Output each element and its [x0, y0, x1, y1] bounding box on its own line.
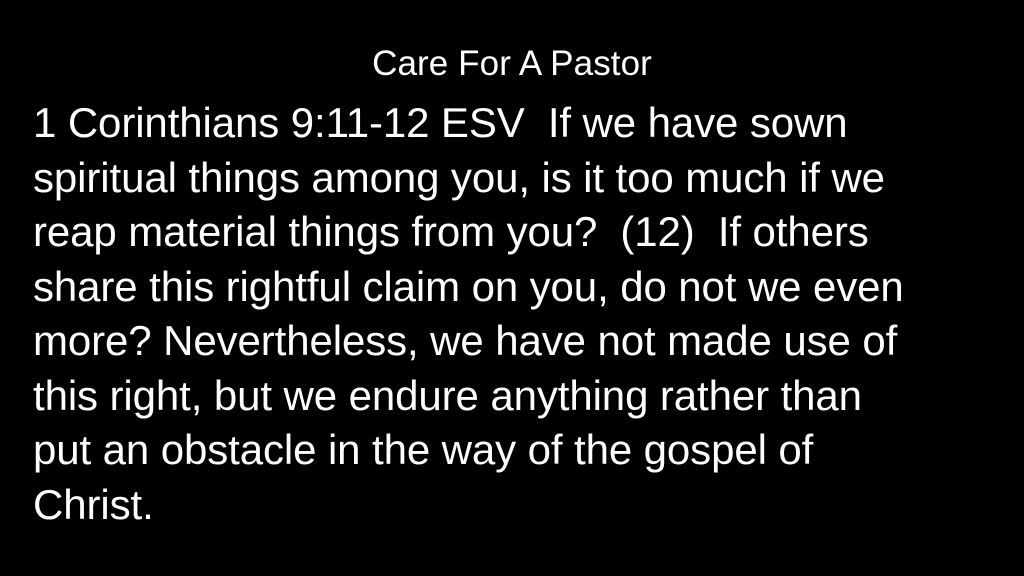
scripture-line: this right, but we endure anything rathe… [33, 369, 993, 424]
scripture-line: 1 Corinthians 9:11-12 ESV If we have sow… [33, 96, 993, 151]
presentation-slide: Care For A Pastor 1 Corinthians 9:11-12 … [0, 0, 1024, 576]
scripture-line: reap material things from you? (12) If o… [33, 205, 993, 260]
scripture-line: share this rightful claim on you, do not… [33, 260, 993, 315]
scripture-line: Christ. [33, 478, 993, 533]
scripture-line: spiritual things among you, is it too mu… [33, 151, 993, 206]
scripture-body-text: 1 Corinthians 9:11-12 ESV If we have sow… [33, 96, 993, 532]
scripture-line: put an obstacle in the way of the gospel… [33, 423, 993, 478]
slide-title: Care For A Pastor [0, 44, 1024, 84]
scripture-line: more? Nevertheless, we have not made use… [33, 314, 993, 369]
